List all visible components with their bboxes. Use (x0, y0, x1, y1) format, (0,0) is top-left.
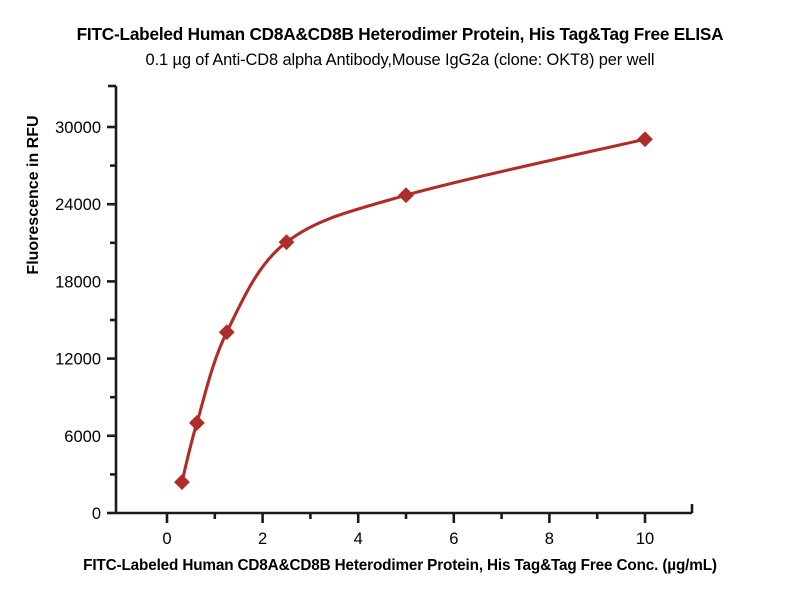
x-tick-label: 8 (545, 530, 554, 548)
y-tick-label: 24000 (55, 196, 101, 214)
data-point-marker (399, 188, 413, 202)
data-markers (175, 132, 652, 489)
plot-area: 06000120001800024000300000246810 (0, 0, 800, 600)
y-tick-label: 12000 (55, 351, 101, 369)
chart-figure: FITC-Labeled Human CD8A&CD8B Heterodimer… (0, 0, 800, 600)
y-tick-label: 0 (92, 505, 101, 523)
x-tick-label: 10 (636, 530, 654, 548)
tick-labels-group: 06000120001800024000300000246810 (55, 119, 654, 548)
fit-curve-line (182, 139, 645, 482)
y-tick-label: 30000 (55, 119, 101, 137)
x-tick-label: 2 (258, 530, 267, 548)
data-point-marker (175, 475, 189, 489)
data-point-marker (220, 325, 234, 339)
y-tick-label: 18000 (55, 273, 101, 291)
data-curve (182, 139, 645, 482)
axes-group (108, 86, 692, 513)
x-tick-label: 6 (449, 530, 458, 548)
x-tick-label: 0 (162, 530, 171, 548)
x-tick-label: 4 (354, 530, 363, 548)
data-point-marker (638, 132, 652, 146)
y-tick-label: 6000 (64, 428, 101, 446)
data-point-marker (190, 416, 204, 430)
